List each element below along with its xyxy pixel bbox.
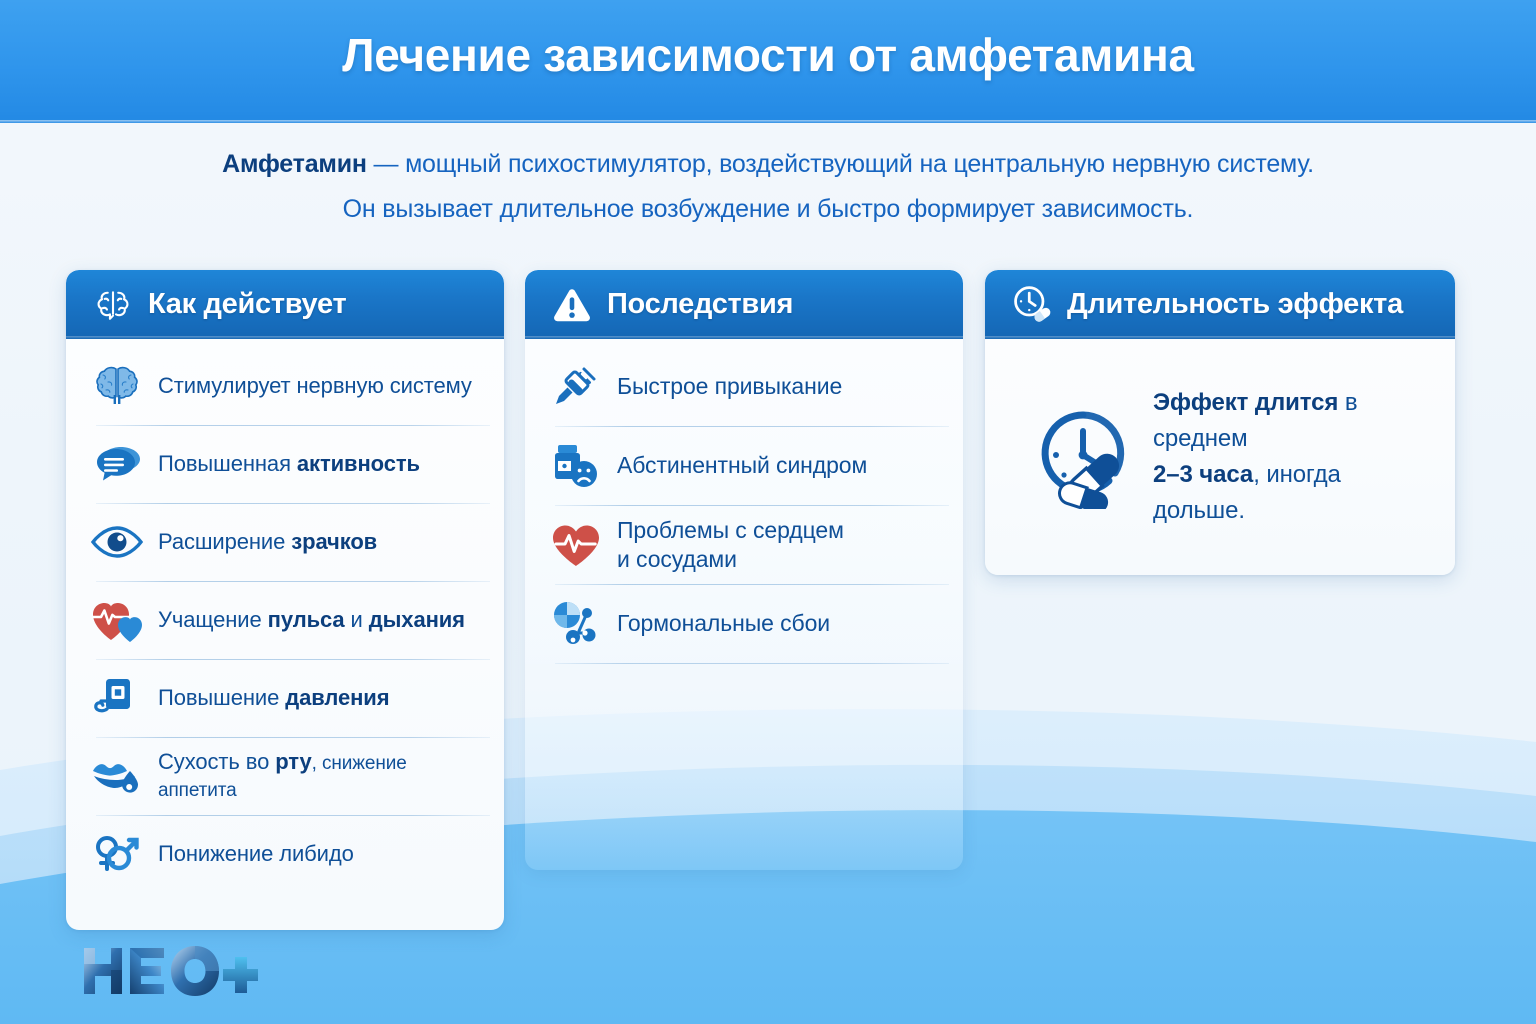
list-item-label: Учащение пульса и дыхания <box>158 607 465 634</box>
list-item: Повышенная активность <box>66 425 504 503</box>
intro-keyword: Амфетамин <box>222 150 367 178</box>
list-item: Быстрое привыкание <box>525 347 963 426</box>
list-item-label: Абстинентный синдром <box>617 451 867 479</box>
card-how-it-works-header: Как действует <box>66 270 504 339</box>
syringe-icon <box>547 359 605 415</box>
list-item: Учащение пульса и дыхания <box>66 581 504 659</box>
list-item-label: Повышение давления <box>158 685 389 712</box>
brain-icon <box>88 358 146 414</box>
blood-pressure-monitor-icon <box>88 670 146 726</box>
clock-capsules-icon <box>1031 405 1135 509</box>
list-item-label: Понижение либидо <box>158 841 354 868</box>
list-item-label: Повышенная активность <box>158 451 420 478</box>
card-effect-duration-header: Длительность эффекта <box>985 270 1455 339</box>
eye-icon <box>88 514 146 570</box>
card-effect-duration-body: Эффект длится в среднем2–3 часа, иногда … <box>985 339 1455 575</box>
page-title: Лечение зависимости от амфетамина <box>0 28 1536 82</box>
header-bar: Лечение зависимости от амфетамина <box>0 0 1536 123</box>
list-item: Проблемы с сердцем и сосудами <box>525 505 963 584</box>
card-how-it-works-title: Как действует <box>148 288 346 321</box>
list-item-label: Расширение зрачков <box>158 529 377 556</box>
list-item-label: Сухость во рту, снижение аппетита <box>158 749 486 803</box>
card-consequences-header: Последствия <box>525 270 963 339</box>
heartbeat-hearts-icon <box>88 592 146 648</box>
list-item-label: Гормональные сбои <box>617 609 830 637</box>
list-item: Стимулирует нервную систему <box>66 347 504 425</box>
dry-lips-drop-icon <box>88 748 146 804</box>
card-consequences-body: Быстрое привыкание Абстинентный с <box>525 339 963 664</box>
list-item: Повышение давления <box>66 659 504 737</box>
card-how-it-works-body: Стимулирует нервную систему Повыш <box>66 339 504 893</box>
list-item: Понижение либидо <box>66 815 504 893</box>
card-consequences: Последствия Быстрое привы <box>525 270 963 870</box>
card-how-it-works: Как действует <box>66 270 504 930</box>
list-item: Абстинентный синдром <box>525 426 963 505</box>
list-item: Расширение зрачков <box>66 503 504 581</box>
speech-bubbles-icon <box>88 436 146 492</box>
list-item: Гормональные сбои <box>525 584 963 663</box>
card-consequences-title: Последствия <box>607 288 793 321</box>
card-effect-duration-title: Длительность эффекта <box>1067 288 1403 321</box>
effect-duration-text: Эффект длится в среднем2–3 часа, иногда … <box>1153 385 1431 529</box>
card-effect-duration: Длительность эффекта <box>985 270 1455 575</box>
heart-pulse-icon <box>547 517 605 573</box>
clock-pills-icon <box>1011 284 1053 326</box>
list-item-label: Быстрое привыкание <box>617 372 842 400</box>
intro-text: Амфетамин — мощный психостимулятор, возд… <box>0 152 1536 222</box>
list-item-label: Проблемы с сердцем и сосудами <box>617 516 844 572</box>
brain-icon <box>92 284 134 326</box>
intro-line-2: Он вызывает длительное возбуждение и быс… <box>0 197 1536 222</box>
neo-plus-logo <box>78 940 258 1002</box>
intro-line-1-rest: — мощный психостимулятор, воздействующий… <box>367 150 1314 178</box>
list-item-label: Стимулирует нервную систему <box>158 373 472 400</box>
intro-line-1: Амфетамин — мощный психостимулятор, возд… <box>0 152 1536 177</box>
gender-symbols-icon <box>88 826 146 882</box>
list-divider <box>555 663 949 664</box>
infographic-root: Лечение зависимости от амфетамина Амфета… <box>0 0 1536 1024</box>
list-item: Сухость во рту, снижение аппетита <box>66 737 504 815</box>
hormone-molecule-icon <box>547 596 605 652</box>
pill-bottle-sad-face-icon <box>547 438 605 494</box>
warning-triangle-icon <box>551 284 593 326</box>
